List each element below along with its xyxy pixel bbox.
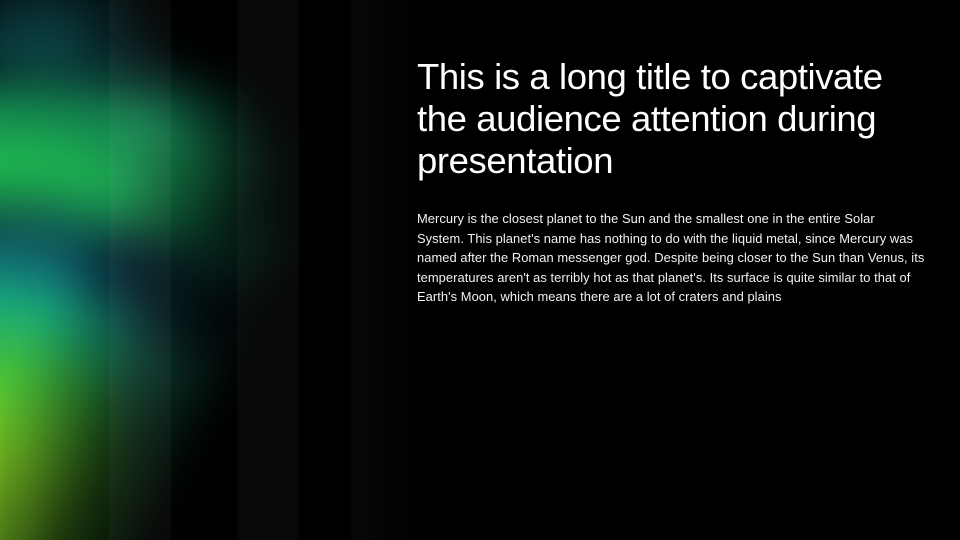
- artwork-right-fade: [0, 0, 424, 540]
- slide-text-panel: This is a long title to captivate the au…: [417, 0, 927, 540]
- presentation-slide: This is a long title to captivate the au…: [0, 0, 960, 540]
- slide-title: This is a long title to captivate the au…: [417, 56, 917, 182]
- slide-body-text: Mercury is the closest planet to the Sun…: [417, 209, 925, 307]
- abstract-fluid-artwork: [0, 0, 424, 540]
